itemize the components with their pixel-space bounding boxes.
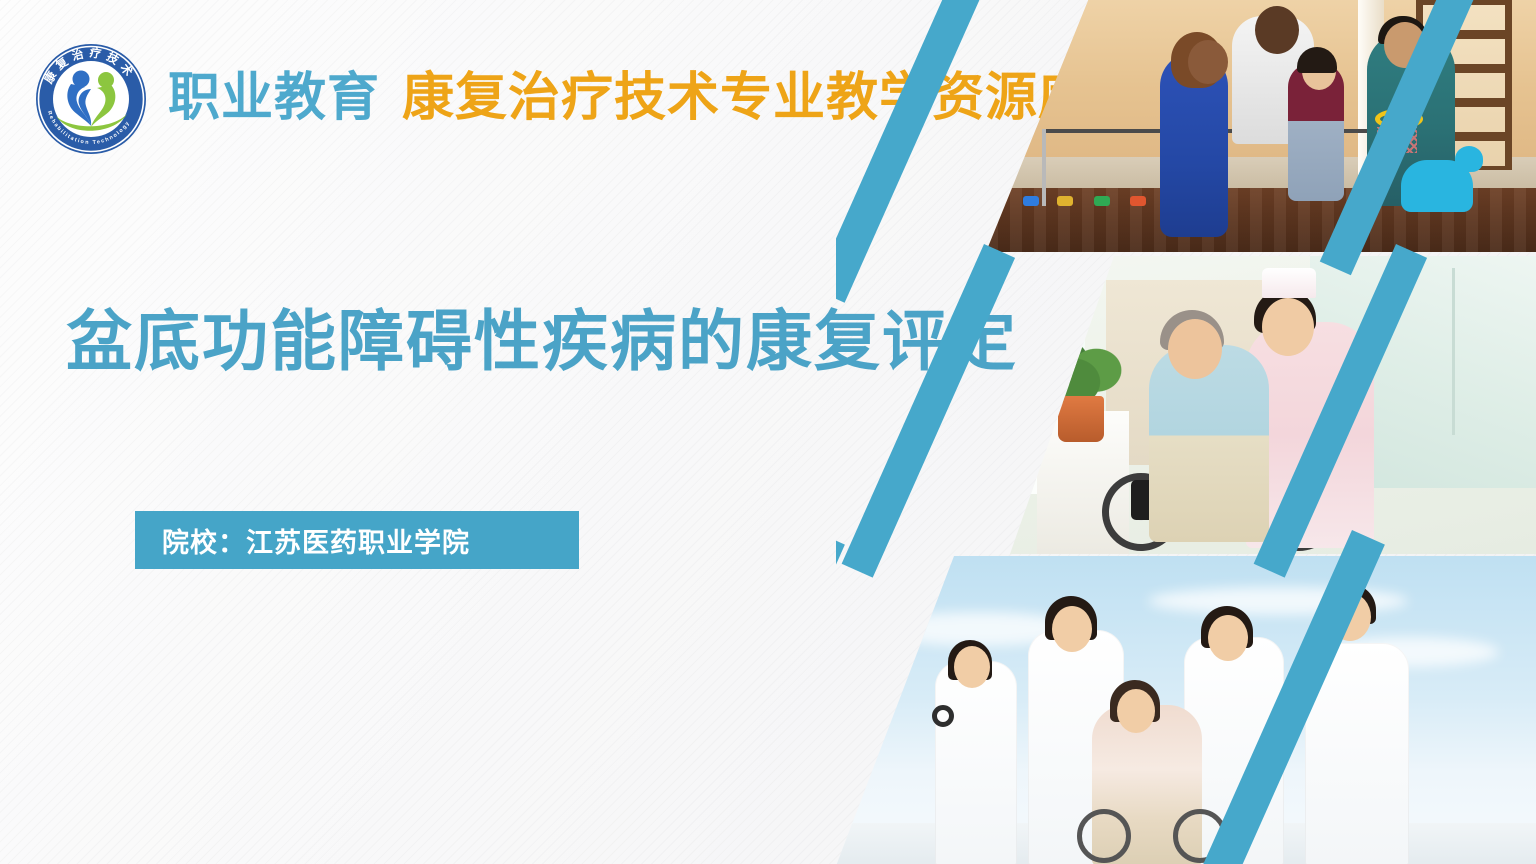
slide-root: 康复治疗技术 Rehabilitation Technology 职业教育康复治… [0,0,1536,864]
header-title-primary: 职业教育 [168,69,380,127]
institution-label: 院校：江苏医药职业学院 [162,521,470,560]
teal-diagonal-stripe [836,0,991,303]
photo-nurse-and-elderly-wheelchair [1010,256,1536,554]
teal-diagonal-stripe [836,530,845,864]
rehabilitation-technology-logo-icon: 康复治疗技术 Rehabilitation Technology [32,40,150,158]
photo-medical-team-group [836,556,1536,864]
institution-badge: 院校：江苏医药职业学院 [135,511,579,569]
photo-collage [836,0,1536,864]
teal-diagonal-stripe [842,244,1015,578]
